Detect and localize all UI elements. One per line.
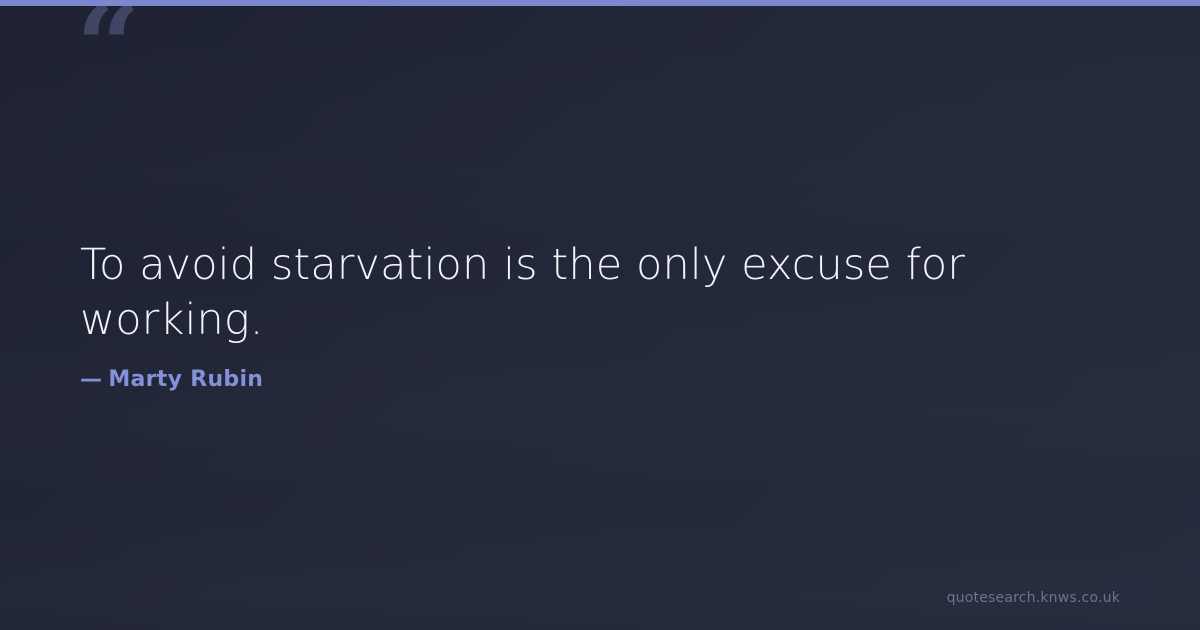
quote-attribution: —Marty Rubin bbox=[80, 367, 1120, 392]
quote-text: To avoid starvation is the only excuse f… bbox=[80, 238, 1120, 346]
site-watermark: quotesearch.knws.co.uk bbox=[947, 590, 1120, 606]
quote-content: To avoid starvation is the only excuse f… bbox=[80, 0, 1120, 630]
attribution-dash: — bbox=[80, 367, 102, 392]
quote-card: “ To avoid starvation is the only excuse… bbox=[0, 0, 1200, 630]
top-accent-bar bbox=[0, 0, 1200, 6]
quote-author: Marty Rubin bbox=[108, 367, 263, 392]
